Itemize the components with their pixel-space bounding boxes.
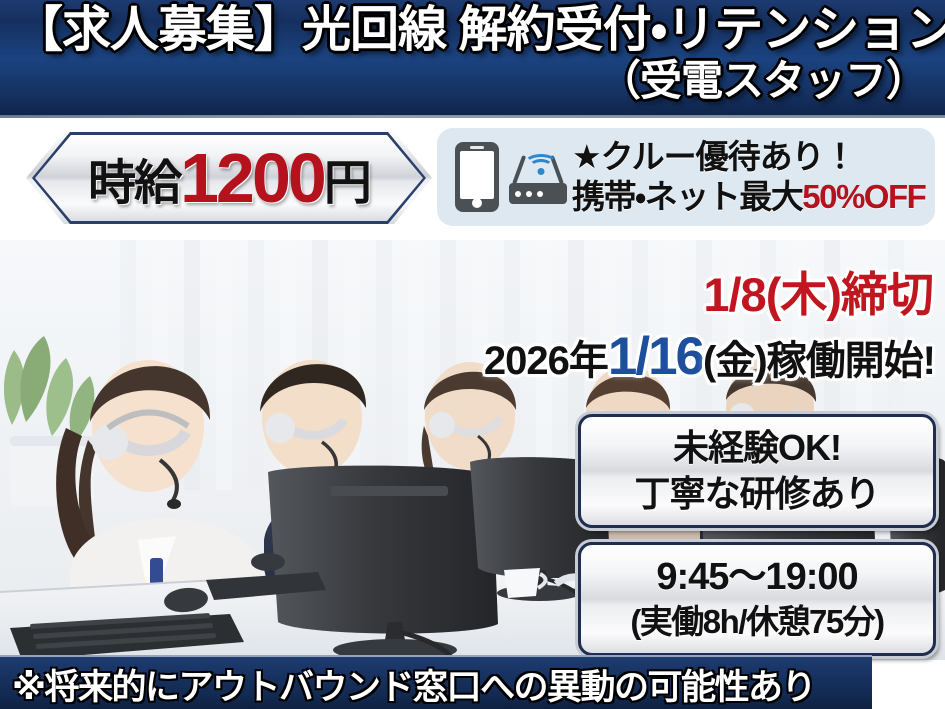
perk-text-group: ★クルー優待あり！ 携帯・ネット最大50%OFF [572, 137, 935, 217]
plate-experience: 未経験OK! 丁寧な研修あり [578, 414, 936, 528]
perk-line1: ★クルー優待あり！ [572, 137, 925, 177]
wifi-router-icon [509, 148, 567, 210]
start-date-line: 2026年1/16(金)稼働開始! [484, 326, 935, 387]
wifi-signal-icon [525, 144, 557, 174]
notice-banner: ※将来的にアウトバウンド窓口への異動の可能性あり [0, 655, 872, 709]
perk-line2-prefix: 携帯・ネット最大 [572, 178, 802, 215]
wage-badge: 時給1200円 [35, 135, 423, 221]
wage-amount: 1200 [180, 143, 324, 213]
header-title-line1: 【求人募集】光回線 解約受付・リテンション窓口 [14, 2, 934, 58]
plate-hours-line2: (実働8h/休憩75分) [630, 600, 883, 644]
perk-icon-group [437, 128, 572, 226]
start-date-suffix: (金)稼働開始! [703, 339, 935, 383]
job-ad-banner: 【求人募集】光回線 解約受付・リテンション窓口 （受電スタッフ） 時給1200円 [0, 0, 945, 709]
start-date-value: 1/16 [608, 327, 703, 386]
perk-box: ★クルー優待あり！ 携帯・ネット最大50%OFF [437, 128, 935, 226]
plate-hours-line1: 9:45〜19:00 [656, 554, 857, 600]
perk-line2: 携帯・ネット最大50%OFF [572, 177, 925, 217]
ad-header: 【求人募集】光回線 解約受付・リテンション窓口 （受電スタッフ） [0, 0, 945, 118]
perk-discount-highlight: 50%OFF [802, 178, 925, 215]
plate-experience-line1: 未経験OK! [673, 425, 841, 471]
start-date-year: 2026年 [484, 339, 608, 383]
wage-perk-band: 時給1200円 ★クルー優待あり！ 携帯・ネット最大50%OFF [0, 118, 945, 240]
plate-working-hours: 9:45〜19:00 (実働8h/休憩75分) [578, 542, 936, 656]
notice-text: ※将来的にアウトバウンド窓口への異動の可能性あり [0, 659, 815, 709]
application-deadline: 1/8(木)締切 [703, 256, 933, 325]
router-body-icon [509, 183, 567, 204]
wage-unit: 円 [324, 143, 370, 213]
smartphone-speaker-icon [470, 146, 484, 149]
plate-experience-line2: 丁寧な研修あり [634, 471, 879, 517]
header-title-line2: （受電スタッフ） [599, 56, 927, 106]
wage-label: 時給 [88, 143, 180, 213]
smartphone-icon [455, 142, 499, 212]
